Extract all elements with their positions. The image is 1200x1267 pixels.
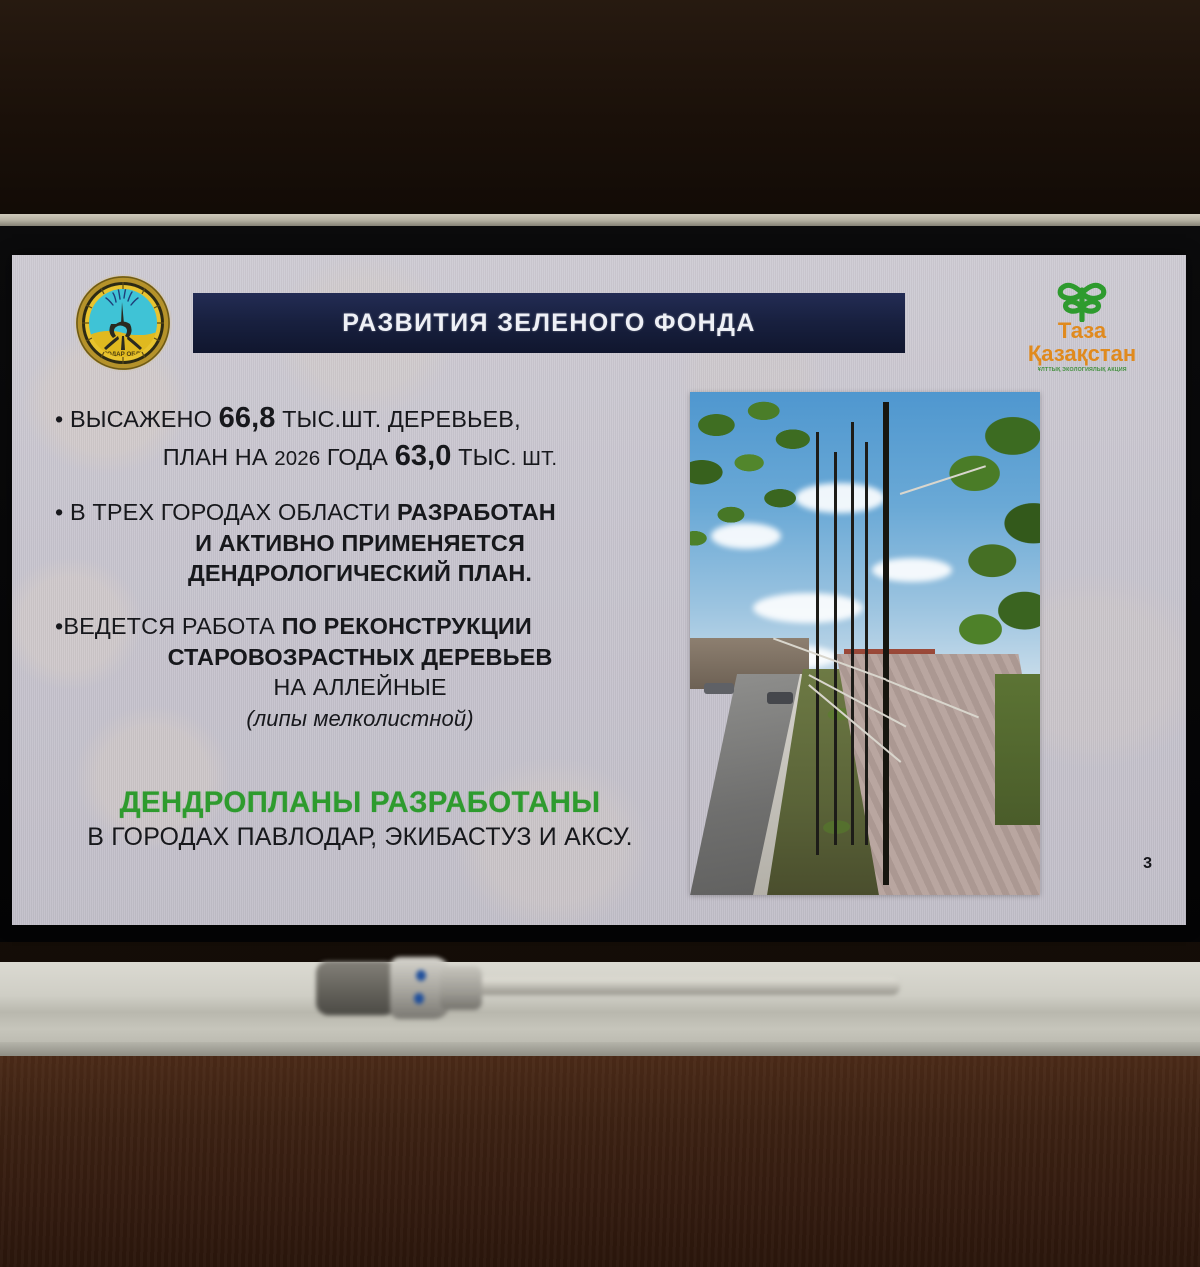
photo-sapling-trunk bbox=[816, 432, 819, 855]
bullet-text: И АКТИВНО ПРИМЕНЯЕТСЯ bbox=[195, 530, 525, 556]
bullet-line: СТАРОВОЗРАСТНЫХ ДЕРЕВЬЕВ bbox=[55, 642, 665, 673]
highlight-sub-line: В ГОРОДАХ ПАВЛОДАР, ЭКИБАСТУЗ И АКСУ. bbox=[55, 823, 665, 852]
wall-above-tv bbox=[0, 0, 1200, 220]
bullet-text: (липы мелколистной) bbox=[246, 706, 473, 731]
bullet-line: НА АЛЛЕЙНЫЕ bbox=[55, 672, 665, 703]
bullet-text: • В ТРЕХ ГОРОДАХ ОБЛАСТИ bbox=[55, 499, 397, 525]
bullet-dendrological-plan: • В ТРЕХ ГОРОДАХ ОБЛАСТИ РАЗРАБОТАНИ АКТ… bbox=[55, 497, 665, 589]
bullet-text: ДЕНДРОЛОГИЧЕСКИЙ ПЛАН. bbox=[188, 560, 532, 586]
slide-page-number: 3 bbox=[1143, 855, 1152, 873]
photo-sapling-trunk bbox=[834, 452, 837, 844]
bullet-reconstruction: •ВЕДЕТСЯ РАБОТА ПО РЕКОНСТРУКЦИИСТАРОВОЗ… bbox=[55, 611, 665, 733]
conference-microphone bbox=[300, 952, 900, 1032]
photo-car bbox=[767, 692, 793, 704]
bullet-text: •ВЕДЕТСЯ РАБОТА bbox=[55, 613, 282, 639]
bullet-text: НА АЛЛЕЙНЫЕ bbox=[273, 674, 446, 700]
bullet-text: ГОДА bbox=[320, 444, 394, 470]
slide-bullet-list: • ВЫСАЖЕНО 66,8 ТЫС.ШТ. ДЕРЕВЬЕВ,ПЛАН НА… bbox=[55, 400, 665, 755]
bullet-text: 63,0 bbox=[395, 440, 452, 472]
microphone-indicator-led bbox=[414, 993, 424, 1004]
bullet-line: И АКТИВНО ПРИМЕНЯЕТСЯ bbox=[55, 528, 665, 559]
wooden-desk bbox=[0, 1056, 1200, 1267]
photo-car bbox=[704, 683, 734, 694]
bullet-line: • ВЫСАЖЕНО 66,8 ТЫС.ШТ. ДЕРЕВЬЕВ, bbox=[55, 400, 665, 438]
bullet-line: •ВЕДЕТСЯ РАБОТА ПО РЕКОНСТРУКЦИИ bbox=[55, 611, 665, 642]
taza-qazaqstan-logo: Таза Қазақстан ҰЛТТЫҚ ЭКОЛОГИЯЛЫҚ АКЦИЯ bbox=[1012, 276, 1152, 388]
bullet-text: ПО РЕКОНСТРУКЦИИ bbox=[282, 613, 532, 639]
microphone-collar bbox=[440, 966, 482, 1010]
slide-highlight-block: ДЕНДРОПЛАНЫ РАЗРАБОТАНЫ В ГОРОДАХ ПАВЛОД… bbox=[55, 786, 665, 852]
bullet-line: ДЕНДРОЛОГИЧЕСКИЙ ПЛАН. bbox=[55, 558, 665, 589]
taza-logo-line1: Таза bbox=[1058, 320, 1106, 342]
ledge-lip bbox=[0, 1042, 1200, 1056]
bullet-line: (липы мелколистной) bbox=[55, 703, 665, 734]
photo-sapling-trunk bbox=[865, 442, 868, 844]
bullet-text: . ШТ. bbox=[511, 447, 558, 470]
bullet-text: ТЫС bbox=[452, 444, 511, 470]
photo-sapling-trunk bbox=[851, 422, 854, 845]
sprout-icon bbox=[1051, 276, 1113, 322]
bullet-line: ПЛАН НА 2026 ГОДА 63,0 ТЫС. ШТ. bbox=[55, 438, 665, 476]
bullet-text: СТАРОВОЗРАСТНЫХ ДЕРЕВЬЕВ bbox=[168, 644, 553, 670]
slide-title-bar: РАЗВИТИЯ ЗЕЛЕНОГО ФОНДА bbox=[193, 293, 905, 353]
taza-logo-subtitle: ҰЛТТЫҚ ЭКОЛОГИЯЛЫҚ АКЦИЯ bbox=[1038, 367, 1127, 373]
microphone-boom-arm bbox=[476, 978, 900, 995]
bullet-text: 2026 bbox=[274, 447, 320, 470]
taza-logo-line2: Қазақстан bbox=[1028, 342, 1136, 365]
bullet-planted-trees: • ВЫСАЖЕНО 66,8 ТЫС.ШТ. ДЕРЕВЬЕВ,ПЛАН НА… bbox=[55, 400, 665, 475]
bullet-text: 66,8 bbox=[219, 402, 276, 434]
street-tree-planting-photo bbox=[690, 392, 1040, 895]
bullet-text: • ВЫСАЖЕНО bbox=[55, 406, 219, 432]
photo-grass-right bbox=[995, 674, 1041, 825]
bullet-text: РАЗРАБОТАН bbox=[397, 499, 556, 525]
bullet-text: ПЛАН НА bbox=[163, 444, 274, 470]
bullet-text: ТЫС.ШТ. ДЕРЕВЬЕВ, bbox=[275, 406, 520, 432]
pavlodar-region-coat-of-arms-icon: ПАВЛОДАР ОБЛЫСЫ bbox=[72, 272, 174, 374]
highlight-green-line: ДЕНДРОПЛАНЫ РАЗРАБОТАНЫ bbox=[55, 786, 665, 820]
photo-sapling-trunk bbox=[883, 402, 889, 885]
bullet-line: • В ТРЕХ ГОРОДАХ ОБЛАСТИ РАЗРАБОТАН bbox=[55, 497, 665, 528]
slide-title: РАЗВИТИЯ ЗЕЛЕНОГО ФОНДА bbox=[342, 309, 756, 338]
microphone-indicator-led bbox=[416, 970, 426, 981]
